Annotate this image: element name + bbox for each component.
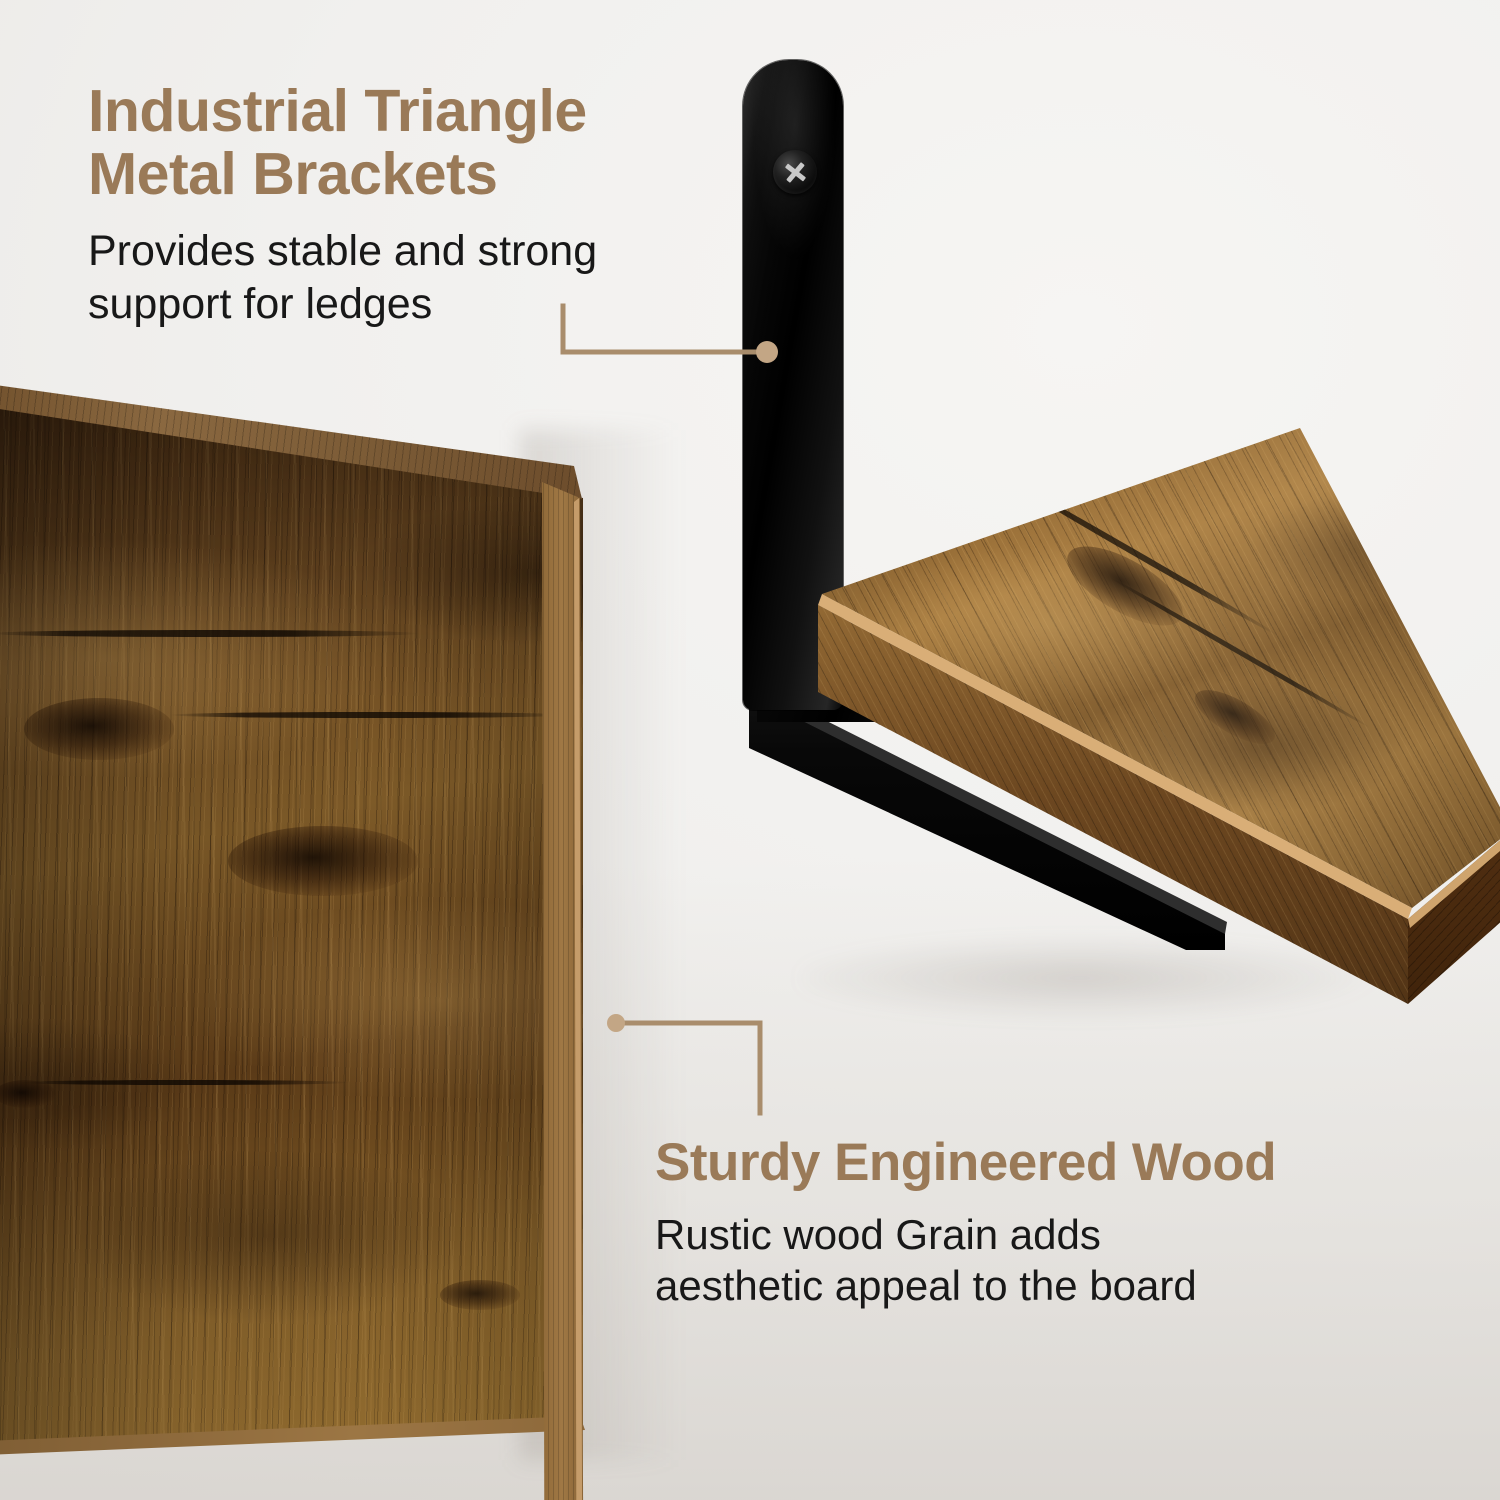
wood-callout-subline: Rustic wood Grain adds aesthetic appeal …: [655, 1209, 1276, 1311]
wood-callout-headline: Sturdy Engineered Wood: [655, 1135, 1276, 1191]
wood-callout-text: Sturdy Engineered Wood Rustic wood Grain…: [655, 1135, 1276, 1312]
bracket-callout-subline: Provides stable and strong support for l…: [88, 225, 597, 330]
bracket-callout-text: Industrial Triangle Metal Brackets Provi…: [88, 80, 597, 330]
right-wood-shelf: [760, 400, 1500, 1040]
bracket-callout-headline: Industrial Triangle Metal Brackets: [88, 80, 597, 205]
product-infographic: Industrial Triangle Metal Brackets Provi…: [0, 0, 1500, 1500]
